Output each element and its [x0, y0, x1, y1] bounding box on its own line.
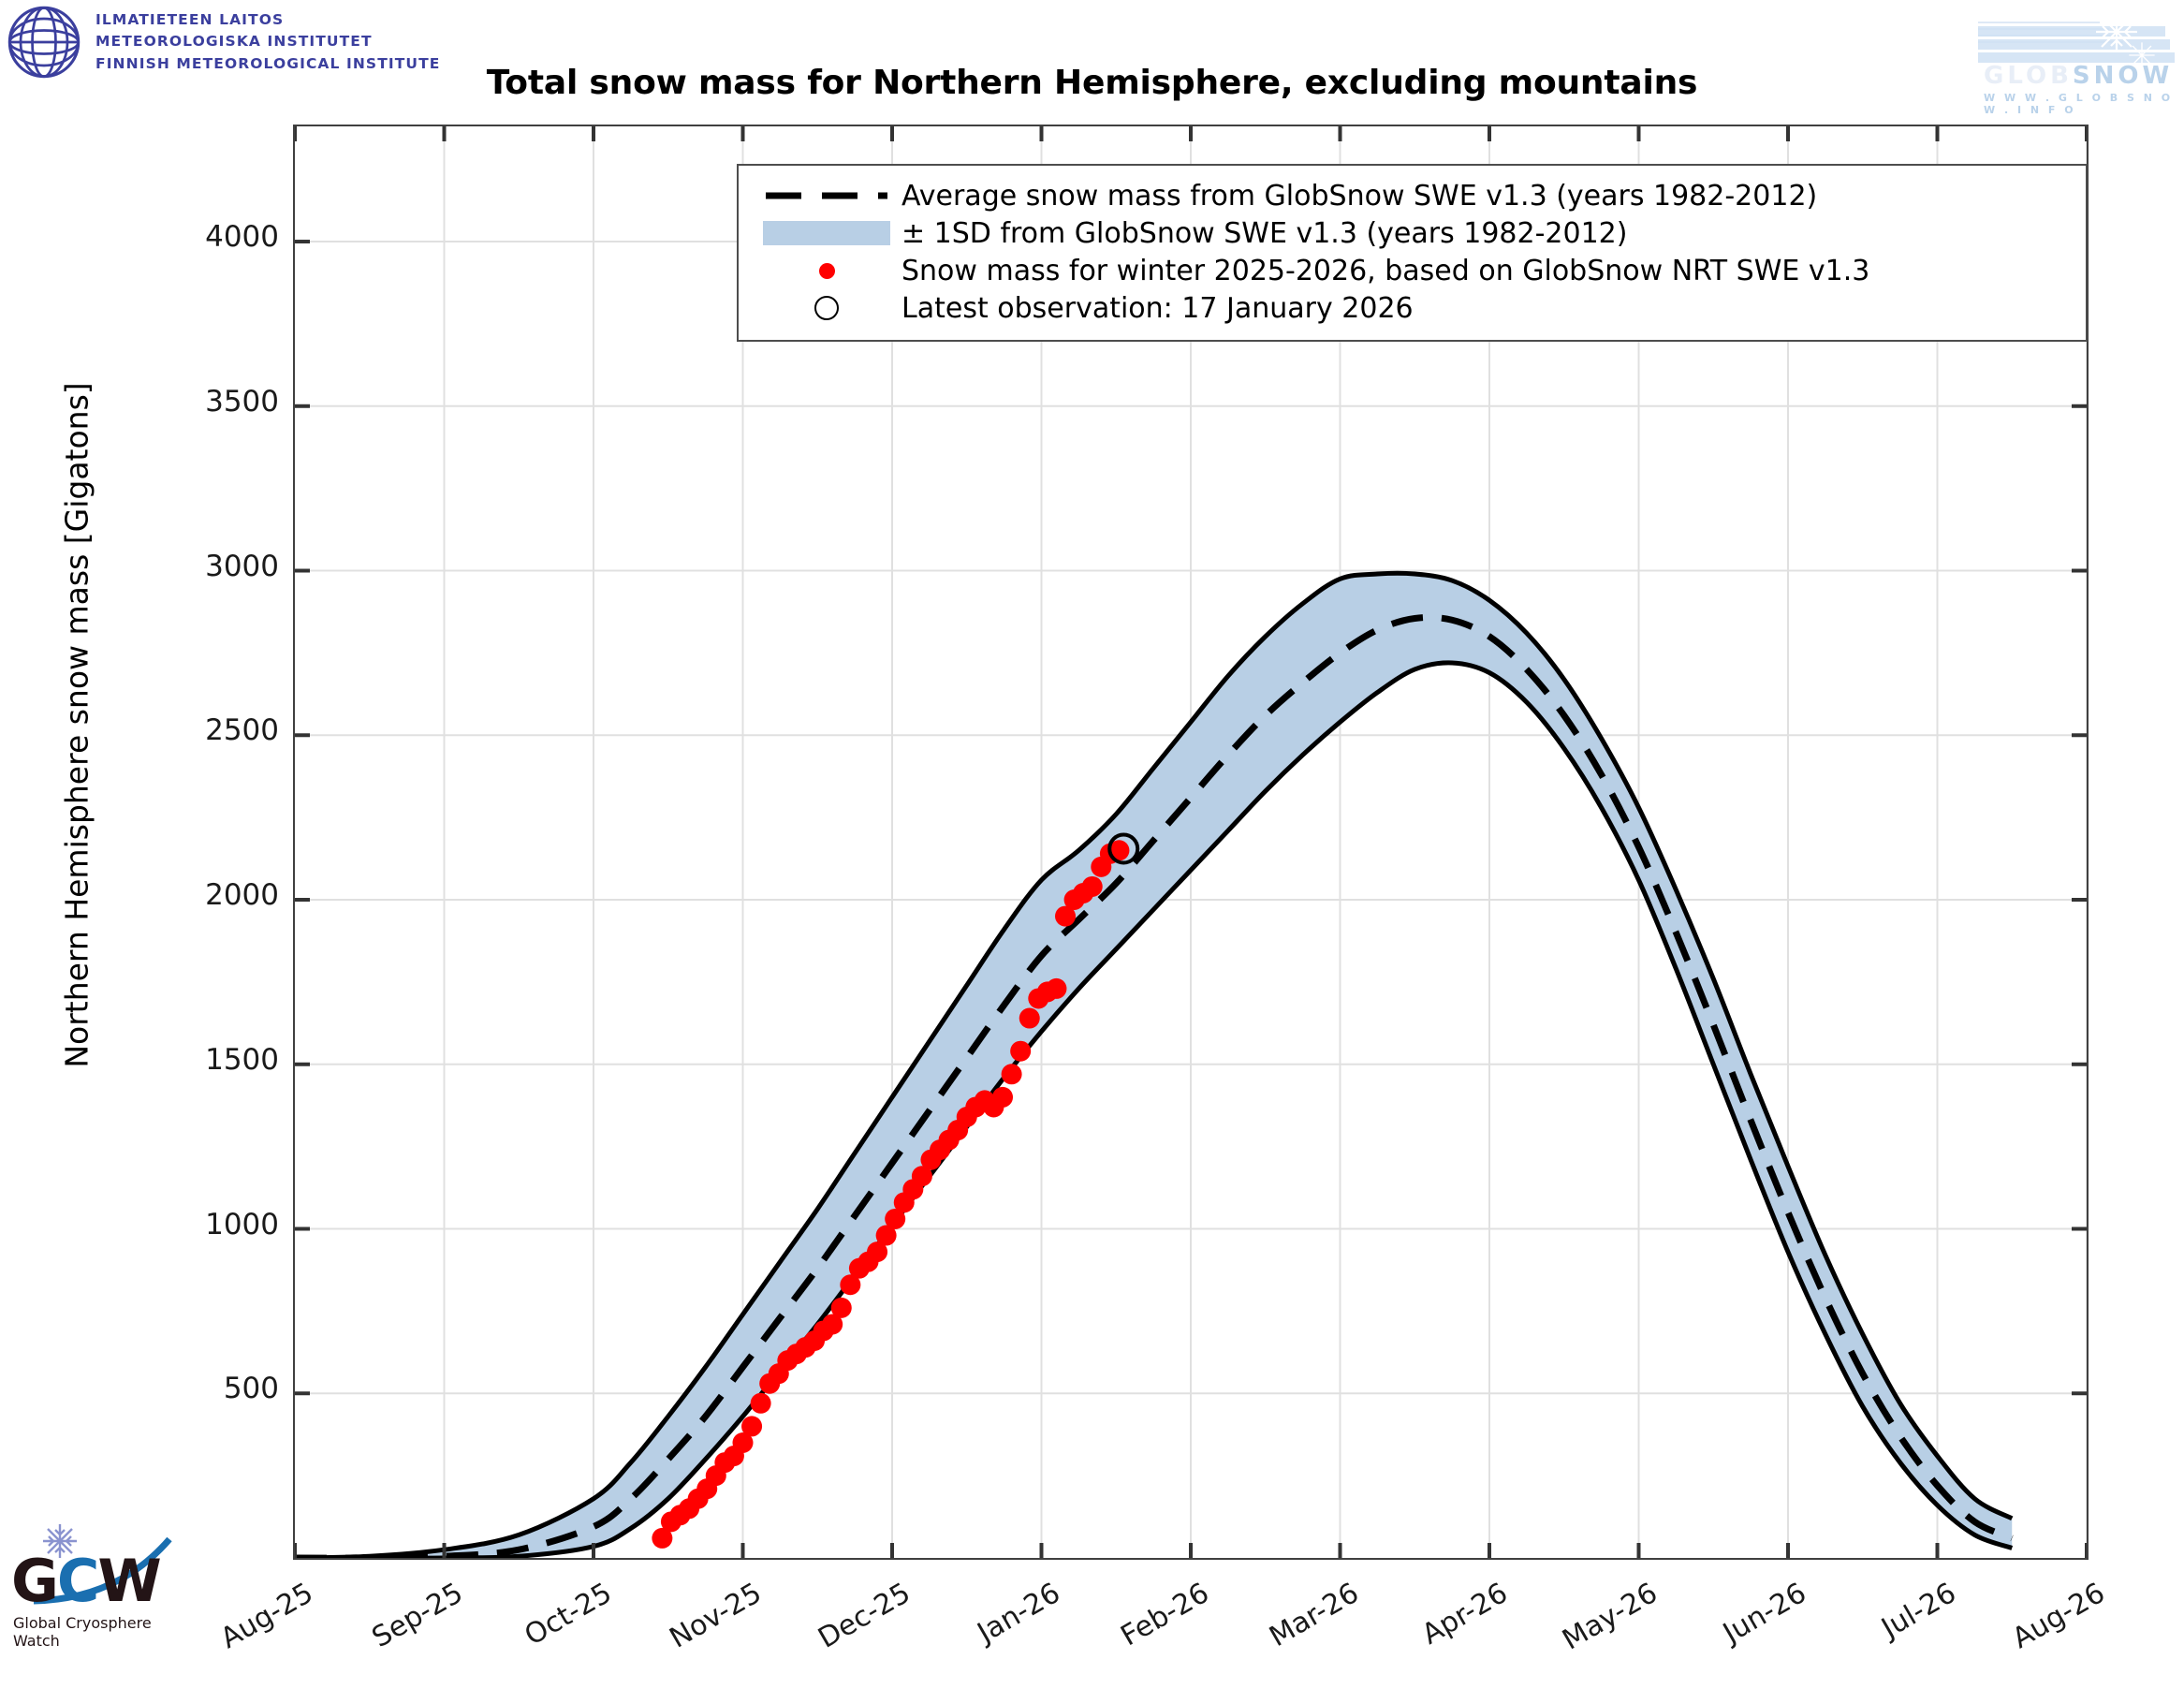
- legend-item-latest: Latest observation: 17 January 2026: [752, 289, 2073, 327]
- legend-key-red-dot: [752, 252, 901, 289]
- sd-band-outlines: [295, 573, 2012, 1558]
- x-tick-label: Aug-26: [1948, 1577, 2110, 1689]
- gcw-letter-c: C: [57, 1547, 98, 1615]
- x-tick-label: May-26: [1501, 1577, 1663, 1689]
- fmi-line-fi: ILMATIETEEN LAITOS: [95, 9, 440, 32]
- y-tick-label: 1500: [148, 1043, 279, 1077]
- y-tick-label: 2500: [148, 713, 279, 747]
- fmi-line-sv: METEOROLOGISKA INSTITUTET: [95, 31, 440, 53]
- x-tick-label: Jun-26: [1649, 1577, 1811, 1689]
- dashed-line-icon: [761, 177, 892, 214]
- x-tick-label: Oct-25: [455, 1577, 617, 1689]
- legend-item-sd-band: ± 1SD from GlobSnow SWE v1.3 (years 1982…: [752, 214, 2073, 252]
- y-tick-label: 2000: [148, 878, 279, 912]
- x-tick-label: Apr-26: [1351, 1577, 1513, 1689]
- legend-label-latest: Latest observation: 17 January 2026: [901, 292, 1414, 325]
- y-tick-label: 3000: [148, 550, 279, 583]
- x-tick-label: Feb-26: [1052, 1577, 1214, 1689]
- x-tick-label: Jan-26: [903, 1577, 1065, 1689]
- sd-band: [295, 573, 2012, 1558]
- y-tick-label: 1000: [148, 1208, 279, 1241]
- y-tick-label: 4000: [148, 220, 279, 254]
- legend-item-average: Average snow mass from GlobSnow SWE v1.3…: [752, 177, 2073, 214]
- y-tick-label: 500: [148, 1372, 279, 1405]
- chart-legend: Average snow mass from GlobSnow SWE v1.3…: [737, 164, 2088, 342]
- band-swatch-icon: [763, 221, 890, 245]
- gcw-tagline: Global Cryosphere Watch: [13, 1614, 202, 1650]
- x-tick-label: Jul-26: [1799, 1577, 1961, 1689]
- red-dot-icon: [819, 263, 835, 279]
- open-circle-icon: [814, 296, 839, 320]
- legend-label-sd-band: ± 1SD from GlobSnow SWE v1.3 (years 1982…: [901, 217, 1627, 250]
- legend-item-winter-dots: Snow mass for winter 2025-2026, based on…: [752, 252, 2073, 289]
- legend-key-dashed-line: [752, 177, 901, 214]
- legend-key-open-circle: [752, 289, 901, 327]
- y-axis-title: Northern Hemisphere snow mass [Gigatons]: [59, 70, 95, 1381]
- legend-key-band-swatch: [752, 214, 901, 252]
- y-tick-label: 3500: [148, 385, 279, 419]
- legend-label-average: Average snow mass from GlobSnow SWE v1.3…: [901, 180, 1817, 213]
- x-tick-label: Dec-25: [754, 1577, 916, 1689]
- page-title: Total snow mass for Northern Hemisphere,…: [0, 64, 2184, 102]
- x-tick-label: Nov-25: [605, 1577, 767, 1689]
- gcw-letter-g: G: [11, 1547, 57, 1615]
- gcw-letter-w: W: [97, 1547, 159, 1615]
- gcw-wordmark: GCW: [11, 1552, 160, 1610]
- x-tick-label: Sep-25: [306, 1577, 468, 1689]
- gcw-logo: GCW Global Cryosphere Watch: [6, 1520, 202, 1635]
- legend-label-winter-dots: Snow mass for winter 2025-2026, based on…: [901, 255, 1869, 287]
- x-tick-label: Mar-26: [1202, 1577, 1364, 1689]
